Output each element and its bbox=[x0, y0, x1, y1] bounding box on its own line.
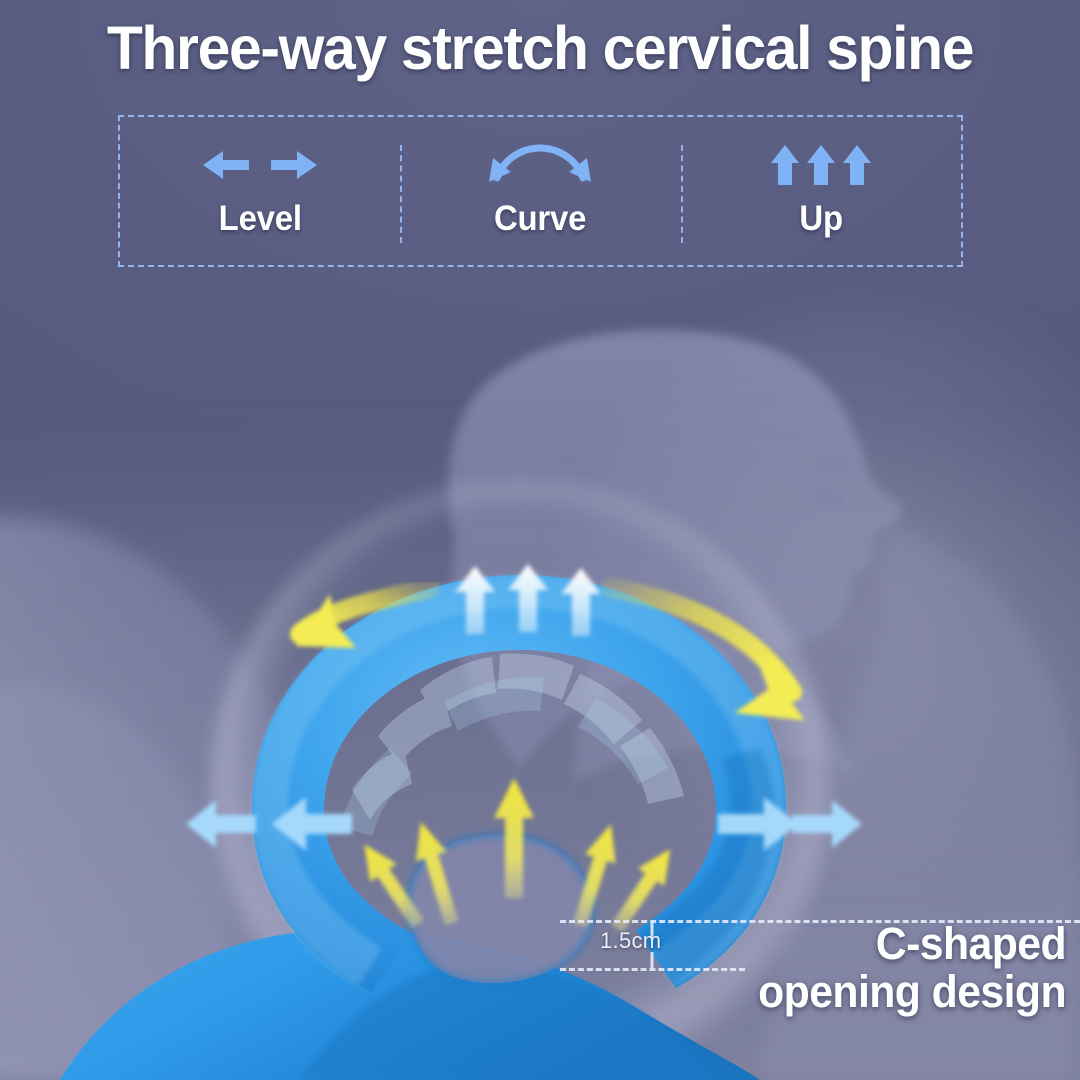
double-horizontal-arrow-icon bbox=[201, 143, 319, 187]
white-up-arrows bbox=[455, 564, 601, 636]
feature-label: Curve bbox=[494, 199, 586, 239]
feature-box: Level Curve bbox=[118, 115, 963, 267]
arc-double-arrow-icon bbox=[481, 143, 599, 187]
feature-curve[interactable]: Curve bbox=[400, 117, 680, 265]
feature-up[interactable]: Up bbox=[681, 117, 961, 265]
callout-text: C-shaped opening design bbox=[629, 920, 1066, 1015]
feature-level[interactable]: Level bbox=[120, 117, 400, 265]
triple-up-arrow-icon bbox=[769, 143, 873, 187]
callout-line-1: C-shaped bbox=[629, 920, 1066, 968]
feature-label: Up bbox=[799, 199, 842, 239]
feature-label: Level bbox=[219, 199, 302, 239]
page-title: Three-way stretch cervical spine bbox=[19, 16, 1061, 81]
infographic-canvas: Three-way stretch cervical spine Level bbox=[0, 0, 1080, 1080]
callout-line-2: opening design bbox=[629, 968, 1066, 1016]
